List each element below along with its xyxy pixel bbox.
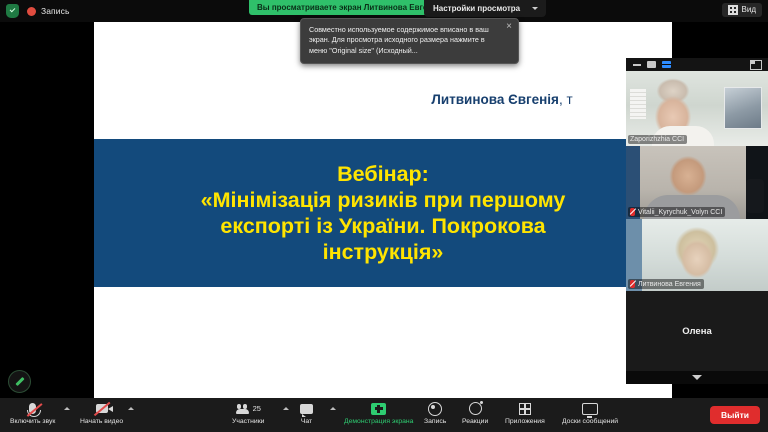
video-tile[interactable]: Vitalii_Kyrychuk_Volyn CCI (626, 146, 768, 219)
start-video-button[interactable]: Начать видео (80, 401, 123, 431)
apps-label: Приложения (505, 418, 545, 425)
video-background-detail (746, 179, 764, 213)
participant-name-label: Vitalii_Kyrychuk_Volyn CCI (638, 209, 722, 216)
slide-title-line-3: експорті із України. Покрокова (104, 213, 662, 239)
share-screen-label: Демонстрация экрана (344, 418, 413, 425)
participant-name-label: Литвинова Евгения (638, 281, 701, 288)
slide-title-line-2: «Мінімізація ризиків при першому (104, 187, 662, 213)
screen-share-banner: Вы просматриваете экран Литвинова Евгени… (249, 0, 450, 15)
slide-presenter-rest: , т (559, 92, 573, 107)
unmute-audio-label: Включить звук (10, 418, 55, 425)
view-button[interactable]: Вид (722, 3, 762, 17)
gallery-view-icon[interactable] (662, 61, 671, 68)
chat-label: Чат (301, 418, 312, 425)
record-icon (428, 401, 442, 416)
participant-name: Zaporizhzhia CCI (628, 135, 687, 144)
apps-icon (519, 401, 531, 416)
slide-presenter-name: Литвинова Євгенія (431, 92, 559, 107)
reactions-label: Реакции (462, 418, 488, 425)
share-screen-icon (371, 401, 386, 416)
minimize-icon[interactable] (633, 64, 641, 66)
reactions-button[interactable]: Реакции (462, 401, 488, 431)
slide-title: Вебінар: «Мінімізація ризиків при першом… (94, 161, 672, 266)
shield-icon (6, 4, 19, 18)
unmute-audio-button[interactable]: Включить звук (10, 401, 55, 431)
filmstrip-scroll-down[interactable] (626, 371, 768, 384)
whiteboard-label: Доски сообщений (562, 418, 618, 425)
reactions-icon (469, 401, 482, 416)
chevron-down-icon (692, 375, 702, 380)
recording-status-group: Запись (6, 3, 70, 19)
video-options-caret-icon[interactable] (128, 407, 134, 410)
chat-options-caret-icon[interactable] (330, 407, 336, 410)
view-settings-button[interactable]: Настройки просмотра (424, 0, 546, 17)
share-screen-button[interactable]: Демонстрация экрана (344, 401, 413, 431)
record-button[interactable]: Запись (424, 401, 446, 431)
mic-muted-icon (630, 208, 635, 216)
pen-icon (15, 377, 24, 386)
recording-dot-icon (27, 7, 36, 16)
video-tile[interactable]: Zaporizhzhia CCI (626, 71, 768, 146)
participant-name: Vitalii_Kyrychuk_Volyn CCI (628, 207, 725, 217)
participant-name: Литвинова Евгения (628, 279, 704, 289)
speaker-view-icon[interactable] (647, 61, 656, 68)
filmstrip-view-controls (626, 58, 768, 71)
slide-title-line-1: Вебінар: (104, 161, 662, 187)
close-icon[interactable]: × (504, 22, 514, 32)
participants-label: Участники (232, 418, 264, 425)
video-background-detail (630, 89, 646, 119)
slide-presenter-line: Литвинова Євгенія, т (94, 92, 672, 107)
video-filmstrip: Zaporizhzhia CCI Vitalii_Kyrychuk_Volyn … (626, 58, 768, 378)
people-icon (236, 403, 251, 414)
chevron-down-icon (532, 7, 538, 10)
tooltip-text: Совместно используемое содержимое вписан… (309, 25, 489, 55)
participants-count: 25 (253, 404, 261, 413)
video-tile[interactable]: Литвинова Евгения (626, 219, 768, 291)
chat-icon (300, 401, 313, 416)
participants-options-caret-icon[interactable] (283, 407, 289, 410)
whiteboard-button[interactable]: Доски сообщений (562, 401, 618, 431)
record-label: Запись (424, 418, 446, 425)
participant-name-label: Олена (682, 326, 711, 337)
slide-title-block: Вебінар: «Мінімізація ризиків при першом… (94, 139, 672, 287)
fit-to-screen-tooltip: Совместно используемое содержимое вписан… (300, 18, 519, 64)
participants-icon-group: 25 (236, 401, 261, 416)
start-video-label: Начать видео (80, 418, 123, 425)
grid-icon (728, 5, 738, 15)
audio-options-caret-icon[interactable] (64, 407, 70, 410)
recording-label: Запись (41, 6, 70, 16)
leave-button[interactable]: Выйти (710, 406, 760, 424)
microphone-muted-icon (29, 401, 36, 416)
apps-button[interactable]: Приложения (505, 401, 545, 431)
view-settings-label: Настройки просмотра (433, 0, 520, 17)
view-button-label: Вид (742, 3, 756, 17)
camera-muted-icon (96, 401, 108, 416)
participants-button[interactable]: 25 Участники (232, 401, 264, 431)
annotate-button[interactable] (8, 370, 31, 393)
mic-muted-icon (630, 280, 635, 288)
participant-name-label: Zaporizhzhia CCI (630, 136, 684, 143)
whiteboard-icon (582, 401, 598, 416)
popout-icon[interactable] (750, 60, 762, 70)
chat-button[interactable]: Чат (300, 401, 313, 431)
video-background-detail (724, 87, 762, 129)
slide-title-line-4: інструкція» (104, 239, 662, 265)
video-tile[interactable]: Олена (626, 291, 768, 371)
bottom-toolbar: Включить звук Начать видео 25 Участники … (0, 398, 768, 432)
